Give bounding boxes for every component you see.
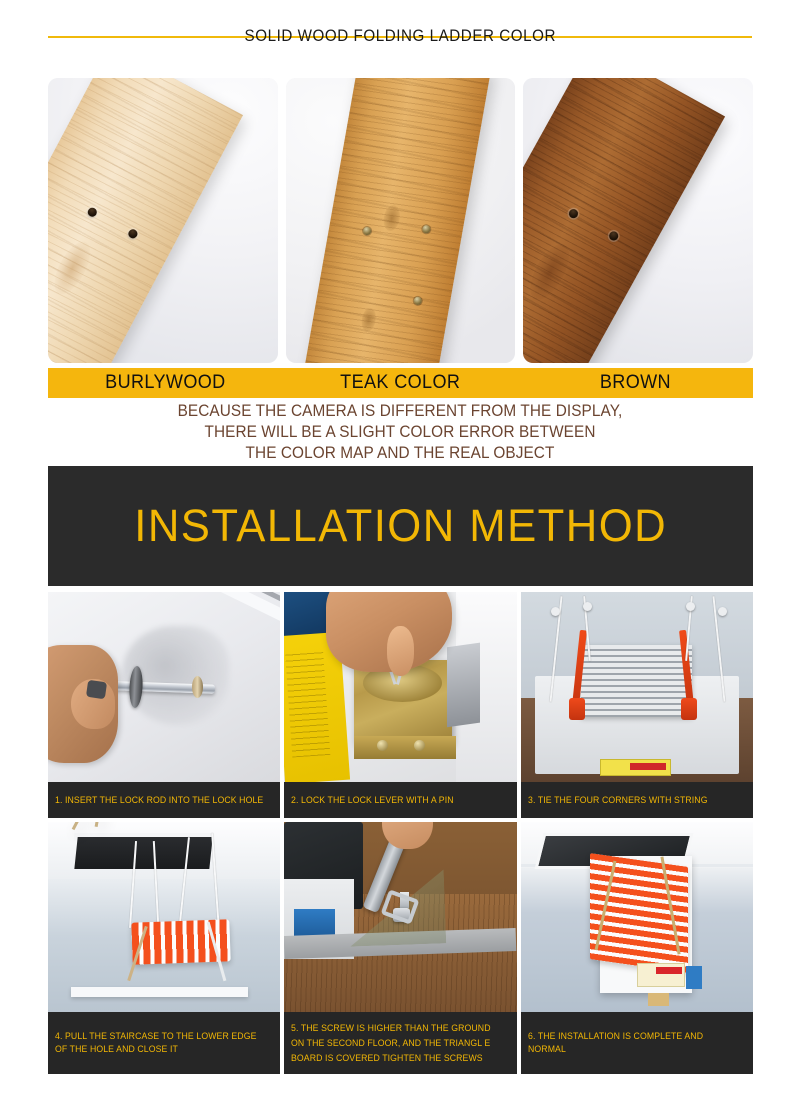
step-caption-text: 4. PULL THE STAIRCASE TO THE LOWER EDGE …: [55, 1030, 265, 1056]
wall-edge-highlight: [155, 592, 280, 625]
step-caption-text: 2. LOCK THE LOCK LEVER WITH A PIN: [291, 794, 454, 807]
step-card-6: 6. THE INSTALLATION IS COMPLETE AND NORM…: [521, 822, 753, 1074]
page-title: SOLID WOOD FOLDING LADDER COLOR: [244, 27, 555, 46]
step-caption-3: 3. TIE THE FOUR CORNERS WITH STRING: [521, 782, 753, 818]
step-caption-1: 1. INSERT THE LOCK ROD INTO THE LOCK HOL…: [48, 782, 280, 818]
color-disclaimer: BECAUSE THE CAMERA IS DIFFERENT FROM THE…: [0, 401, 800, 464]
color-name-cell-teak: TEAK COLOR: [283, 368, 518, 398]
ladder-steps: [581, 645, 693, 717]
step-photo-2: [284, 592, 516, 782]
product-infographic-page: SOLID WOOD FOLDING LADDER COLOR: [0, 0, 800, 1106]
ceiling-opening: [74, 837, 212, 869]
color-name-label: BURLYWOOD: [105, 372, 225, 394]
string-knot: [686, 602, 695, 611]
color-name-label: BROWN: [600, 372, 671, 394]
step-card-5: 5. THE SCREW IS HIGHER THAN THE GROUND O…: [284, 822, 516, 1074]
swatch-photo-teak: [286, 78, 516, 363]
string-knot: [583, 602, 592, 611]
step-caption-6: 6. THE INSTALLATION IS COMPLETE AND NORM…: [521, 1012, 753, 1074]
installation-banner-title: INSTALLATION METHOD: [134, 500, 667, 552]
step-photo-4: [48, 822, 280, 1012]
rod-tip: [192, 676, 203, 698]
step-photo-3: [521, 592, 753, 782]
step-caption-text: 5. THE SCREW IS HIGHER THAN THE GROUND O…: [291, 1021, 501, 1066]
step-photo-5: [284, 822, 516, 1012]
rod-grip: [86, 680, 107, 700]
disclaimer-line-3: THE COLOR MAP AND THE REAL OBJECT: [28, 443, 772, 464]
swatch-photo-brown: [523, 78, 753, 363]
color-name-label: TEAK COLOR: [340, 372, 460, 394]
installation-steps-grid: 1. INSERT THE LOCK ROD INTO THE LOCK HOL…: [48, 592, 753, 1074]
disclaimer-line-1: BECAUSE THE CAMERA IS DIFFERENT FROM THE…: [28, 401, 772, 422]
step-card-3: 3. TIE THE FOUR CORNERS WITH STRING: [521, 592, 753, 818]
step-card-1: 1. INSERT THE LOCK ROD INTO THE LOCK HOL…: [48, 592, 280, 818]
installation-banner: INSTALLATION METHOD: [48, 466, 753, 586]
color-name-bar: BURLYWOOD TEAK COLOR BROWN: [48, 368, 753, 398]
ladder-rail: [71, 987, 248, 997]
step-caption-4: 4. PULL THE STAIRCASE TO THE LOWER EDGE …: [48, 1012, 280, 1074]
disclaimer-line-2: THERE WILL BE A SLIGHT COLOR ERROR BETWE…: [28, 422, 772, 443]
string-knot: [551, 607, 560, 616]
step-card-2: 2. LOCK THE LOCK LEVER WITH A PIN: [284, 592, 516, 818]
step-photo-1: [48, 592, 280, 782]
blue-label: [686, 966, 702, 989]
swatch-photo-burlywood: [48, 78, 278, 363]
step-caption-text: 1. INSERT THE LOCK ROD INTO THE LOCK HOL…: [55, 794, 263, 807]
step-card-4: 4. PULL THE STAIRCASE TO THE LOWER EDGE …: [48, 822, 280, 1074]
steps-row-top: 1. INSERT THE LOCK ROD INTO THE LOCK HOL…: [48, 592, 753, 818]
step-photo-6: [521, 822, 753, 1012]
red-bracket: [681, 698, 697, 720]
step-caption-text: 3. TIE THE FOUR CORNERS WITH STRING: [528, 794, 708, 807]
steps-row-bottom: 4. PULL THE STAIRCASE TO THE LOWER EDGE …: [48, 822, 753, 1074]
accessory-box: [648, 993, 669, 1006]
warning-label: [637, 963, 685, 988]
color-name-cell-brown: BROWN: [518, 368, 753, 398]
finger: [387, 626, 415, 675]
step-caption-2: 2. LOCK THE LOCK LEVER WITH A PIN: [284, 782, 516, 818]
step-caption-text: 6. THE INSTALLATION IS COMPLETE AND NORM…: [528, 1030, 738, 1056]
step-caption-5: 5. THE SCREW IS HIGHER THAN THE GROUND O…: [284, 1012, 516, 1074]
lock-foot: [354, 736, 456, 759]
color-swatch-gallery: [48, 78, 753, 363]
color-name-cell-burlywood: BURLYWOOD: [48, 368, 283, 398]
red-bracket: [569, 698, 585, 720]
warning-label: [600, 759, 672, 776]
lock-bracket: [447, 643, 480, 727]
page-header: SOLID WOOD FOLDING LADDER COLOR: [0, 18, 800, 54]
